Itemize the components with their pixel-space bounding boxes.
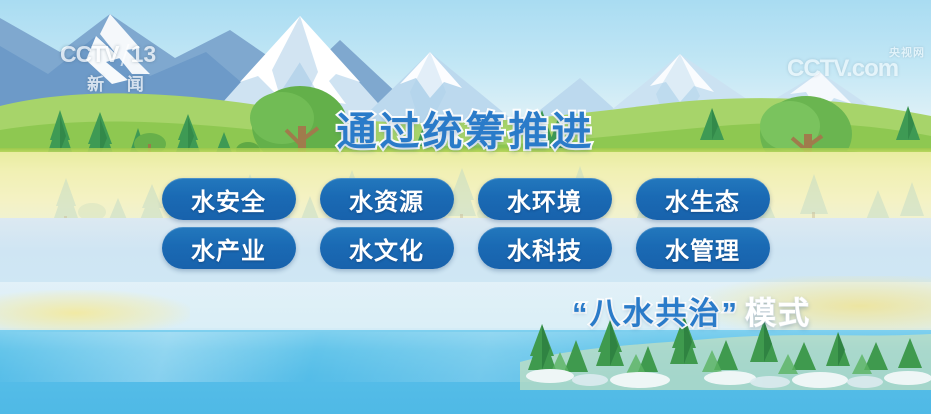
logo-top-row: CCTV 13 xyxy=(60,41,180,68)
topic-pill-water-environment[interactable]: 水环境 xyxy=(478,178,612,220)
page-title: 通过统筹推进 xyxy=(0,99,931,157)
cctv13-channel-logo: CCTV 13 新 闻 xyxy=(60,41,180,93)
topic-pill-water-technology[interactable]: 水科技 xyxy=(478,227,612,269)
caption-quoted-term: “八水共治” xyxy=(572,296,739,331)
topic-pill-grid: 水安全 水资源 水环境 水生态 水产业 水文化 水科技 水管理 xyxy=(0,178,931,276)
footer-caption: “八水共治”模式 xyxy=(0,288,931,333)
channel-number: 13 xyxy=(131,43,157,66)
broadcast-graphic-frame: CCTV 13 新 闻 央视网 CCTV.com 通过统筹推进 水安全 水资源 … xyxy=(0,0,931,414)
cctv-com-watermark: 央视网 CCTV.com xyxy=(787,44,927,90)
topic-pill-water-safety[interactable]: 水安全 xyxy=(162,178,296,220)
topic-pill-water-management[interactable]: 水管理 xyxy=(636,227,770,269)
topic-pill-water-culture[interactable]: 水文化 xyxy=(320,227,454,269)
channel-name-label: 新 闻 xyxy=(60,70,180,95)
caption-suffix: 模式 xyxy=(745,296,811,331)
watermark-site-url: CCTV.com xyxy=(787,57,898,81)
logo-slash-divider xyxy=(120,44,129,66)
cctv-wordmark: CCTV xyxy=(60,43,119,66)
topic-pill-water-resources[interactable]: 水资源 xyxy=(320,178,454,220)
topic-pill-row-2: 水产业 水文化 水科技 水管理 xyxy=(0,227,931,269)
topic-pill-water-ecology[interactable]: 水生态 xyxy=(636,178,770,220)
topic-pill-row-1: 水安全 水资源 水环境 水生态 xyxy=(0,178,931,220)
topic-pill-water-industry[interactable]: 水产业 xyxy=(162,227,296,269)
